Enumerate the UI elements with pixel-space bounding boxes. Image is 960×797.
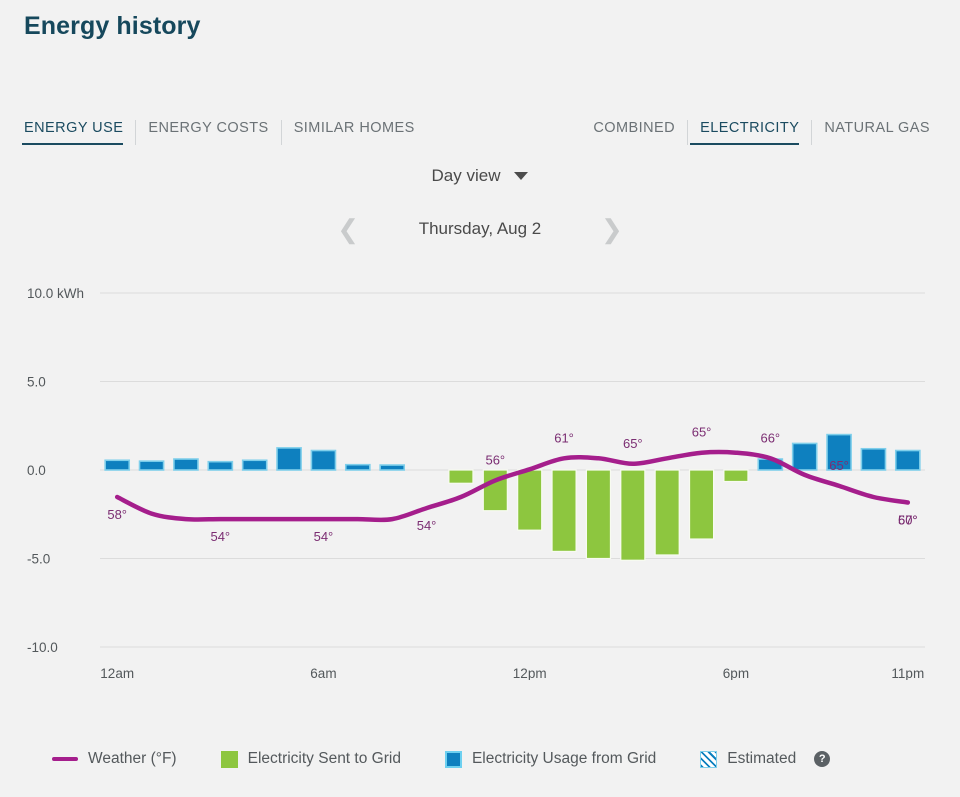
x-axis-tick-label: 6am bbox=[310, 666, 336, 680]
legend-item-sent-to-grid[interactable]: Electricity Sent to Grid bbox=[221, 750, 401, 768]
energy-history-chart: 10.0 kWh5.00.0-5.0-10.0 58°54°54°54°56°6… bbox=[0, 270, 960, 680]
tab-energy-use-label: ENERGY USE bbox=[24, 120, 123, 136]
tab-similar-homes-label: SIMILAR HOMES bbox=[294, 120, 415, 136]
tab-electricity[interactable]: ELECTRICITY bbox=[687, 120, 811, 145]
bar-usage-from-grid[interactable] bbox=[105, 460, 129, 470]
tabs-energy-view: ENERGY USE ENERGY COSTS SIMILAR HOMES bbox=[22, 120, 427, 145]
tab-similar-homes[interactable]: SIMILAR HOMES bbox=[281, 120, 427, 145]
view-mode-label: Day view bbox=[432, 166, 501, 186]
bar-usage-from-grid[interactable] bbox=[861, 449, 885, 470]
bars-sent-to-grid bbox=[449, 470, 748, 560]
bar-usage-from-grid[interactable] bbox=[277, 448, 301, 470]
bar-sent-to-grid[interactable] bbox=[690, 470, 714, 539]
weather-line-swatch-icon bbox=[52, 757, 78, 761]
page-title: Energy history bbox=[24, 12, 200, 41]
legend-label-usage-from-grid: Electricity Usage from Grid bbox=[472, 750, 656, 768]
legend-label-estimated: Estimated bbox=[727, 750, 796, 768]
temperature-label: 57° bbox=[898, 513, 918, 528]
view-mode-dropdown[interactable]: Day view bbox=[0, 166, 960, 186]
y-axis-tick-label: -10.0 bbox=[27, 640, 58, 655]
bar-usage-from-grid[interactable] bbox=[793, 443, 817, 470]
bar-usage-from-grid[interactable] bbox=[380, 465, 404, 470]
temperature-label: 65° bbox=[692, 425, 712, 440]
y-axis-tick-label: -5.0 bbox=[27, 552, 50, 567]
tab-natural-gas[interactable]: NATURAL GAS bbox=[811, 120, 942, 145]
bar-usage-from-grid[interactable] bbox=[208, 462, 232, 470]
temperature-label: 65° bbox=[623, 436, 643, 451]
temperature-label: 58° bbox=[107, 507, 127, 522]
date-navigator: ❮ Thursday, Aug 2 ❯ bbox=[0, 216, 960, 242]
tab-electricity-label: ELECTRICITY bbox=[700, 120, 799, 136]
legend-item-usage-from-grid[interactable]: Electricity Usage from Grid bbox=[445, 750, 656, 768]
y-axis-tick-label: 0.0 bbox=[27, 463, 46, 478]
temperature-label: 66° bbox=[760, 430, 780, 445]
chart-x-axis-labels: 12am6am12pm6pm11pm bbox=[100, 666, 924, 680]
bar-sent-to-grid[interactable] bbox=[586, 470, 610, 559]
x-axis-tick-label: 11pm bbox=[891, 666, 924, 680]
tab-natural-gas-label: NATURAL GAS bbox=[824, 120, 930, 136]
question-mark-icon[interactable]: ? bbox=[814, 751, 830, 767]
tab-energy-costs-label: ENERGY COSTS bbox=[148, 120, 268, 136]
bar-usage-from-grid[interactable] bbox=[346, 465, 370, 470]
bar-usage-from-grid[interactable] bbox=[896, 451, 920, 470]
legend-label-sent-to-grid: Electricity Sent to Grid bbox=[248, 750, 401, 768]
weather-line-series bbox=[117, 452, 908, 520]
temperature-label: 54° bbox=[210, 529, 230, 544]
green-square-icon bbox=[221, 751, 238, 768]
tab-combined[interactable]: COMBINED bbox=[591, 120, 687, 145]
tab-energy-use[interactable]: ENERGY USE bbox=[22, 120, 135, 145]
weather-line-path bbox=[117, 452, 908, 520]
temperature-annotations: 58°54°54°54°56°61°65°65°66°65°60°57° bbox=[107, 425, 917, 544]
x-axis-tick-label: 12pm bbox=[513, 666, 547, 680]
chevron-left-icon[interactable]: ❮ bbox=[337, 216, 359, 242]
temperature-label: 56° bbox=[485, 452, 505, 467]
y-axis-tick-label: 10.0 kWh bbox=[27, 286, 84, 301]
bar-sent-to-grid[interactable] bbox=[518, 470, 542, 530]
x-axis-tick-label: 6pm bbox=[723, 666, 749, 680]
chart-y-axis-labels: 10.0 kWh5.00.0-5.0-10.0 bbox=[27, 286, 84, 655]
legend-item-weather[interactable]: Weather (°F) bbox=[52, 750, 177, 768]
bar-sent-to-grid[interactable] bbox=[621, 470, 645, 560]
current-date-label: Thursday, Aug 2 bbox=[395, 219, 565, 239]
chart-canvas: 10.0 kWh5.00.0-5.0-10.0 58°54°54°54°56°6… bbox=[0, 270, 960, 680]
y-axis-tick-label: 5.0 bbox=[27, 375, 46, 390]
temperature-label: 61° bbox=[554, 430, 574, 445]
temperature-label: 54° bbox=[314, 529, 334, 544]
bar-usage-from-grid[interactable] bbox=[140, 461, 164, 470]
x-axis-tick-label: 12am bbox=[100, 666, 134, 680]
legend-item-estimated[interactable]: Estimated ? bbox=[700, 750, 830, 768]
tab-energy-costs[interactable]: ENERGY COSTS bbox=[135, 120, 280, 145]
bar-sent-to-grid[interactable] bbox=[449, 470, 473, 483]
chevron-down-icon bbox=[514, 172, 528, 180]
hatched-square-icon bbox=[700, 751, 717, 768]
bar-sent-to-grid[interactable] bbox=[655, 470, 679, 555]
tabs-fuel-type: COMBINED ELECTRICITY NATURAL GAS bbox=[591, 120, 942, 145]
tab-combined-label: COMBINED bbox=[593, 120, 675, 136]
chevron-right-icon[interactable]: ❯ bbox=[601, 216, 623, 242]
temperature-label: 54° bbox=[417, 518, 437, 533]
bar-usage-from-grid[interactable] bbox=[243, 460, 267, 470]
chart-legend: Weather (°F) Electricity Sent to Grid El… bbox=[52, 750, 874, 768]
temperature-label: 65° bbox=[829, 458, 849, 473]
bar-sent-to-grid[interactable] bbox=[552, 470, 576, 551]
bar-usage-from-grid[interactable] bbox=[311, 451, 335, 470]
bar-sent-to-grid[interactable] bbox=[724, 470, 748, 482]
bars-usage-from-grid bbox=[105, 435, 920, 470]
bar-usage-from-grid[interactable] bbox=[174, 459, 198, 470]
legend-label-weather: Weather (°F) bbox=[88, 750, 177, 768]
blue-square-icon bbox=[445, 751, 462, 768]
